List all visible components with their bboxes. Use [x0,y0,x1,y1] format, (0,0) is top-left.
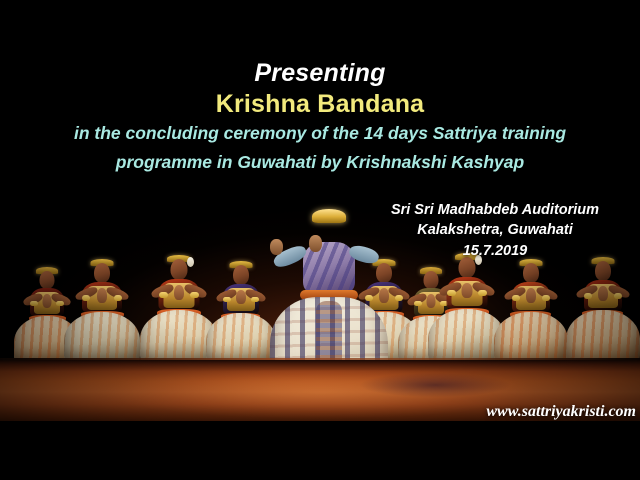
dancer-right-bangle [190,292,199,298]
lead-dancer-left-hand [270,239,283,255]
event-date: 15.7.2019 [360,241,630,262]
venue-details: Sri Sri Madhabdeb Auditorium Kalakshetra… [360,200,630,262]
dancer-namaste-hands [598,286,608,301]
seated-dancer [494,259,568,371]
dancer-left-bangle [159,292,168,298]
dancer-head [40,271,55,289]
dancer-right-bangle [614,293,622,299]
dancer-left-bangle [512,295,520,301]
seated-dancer [64,259,140,371]
dancer-head [171,259,188,280]
letterbox-bar-top [0,0,640,9]
seated-dancer [206,261,276,371]
dancer-right-bangle [114,295,122,301]
dancer-left-bangle [584,293,592,299]
dancer-namaste-hands [526,288,536,303]
dancer-right-bangle [56,301,64,306]
dancer-right-bangle [542,295,550,301]
dancer-left-bangle [30,301,38,306]
venue-name: Sri Sri Madhabdeb Auditorium [360,200,630,220]
dancer-head [595,261,611,281]
website-watermark: www.sattriyakristi.com [460,403,636,421]
venue-place: Kalakshetra, Guwahati [360,220,630,241]
dancer-namaste-hands [236,290,246,304]
dancer-left-bangle [82,295,90,301]
dancer-head [233,265,249,285]
letterbox-bar-bottom [0,421,640,480]
subtitle-line-2: programme in Guwahati by Krishnakshi Kas… [0,152,640,173]
stage-floor-shadow [330,368,540,402]
lead-dancer-right-hand [309,235,322,252]
subtitle-line-1: in the concluding ceremony of the 14 day… [0,123,640,144]
dancer-right-bangle [251,297,259,302]
dancer-namaste-hands [462,283,473,298]
dancer-right-bangle [478,290,487,296]
dancer-head [523,263,539,283]
piece-title: Krishna Bandana [0,90,640,119]
dancer-hair-ornament [187,257,194,267]
dancer-namaste-hands [43,294,52,308]
dancer-left-bangle [447,290,456,296]
dancer-left-bangle [414,301,422,306]
dancer-head [94,263,110,283]
presenting-label: Presenting [0,59,640,88]
dancer-namaste-hands [97,288,107,303]
dancer-left-bangle [223,297,231,302]
seated-dancer [566,257,640,371]
dancer-namaste-hands [174,285,184,300]
